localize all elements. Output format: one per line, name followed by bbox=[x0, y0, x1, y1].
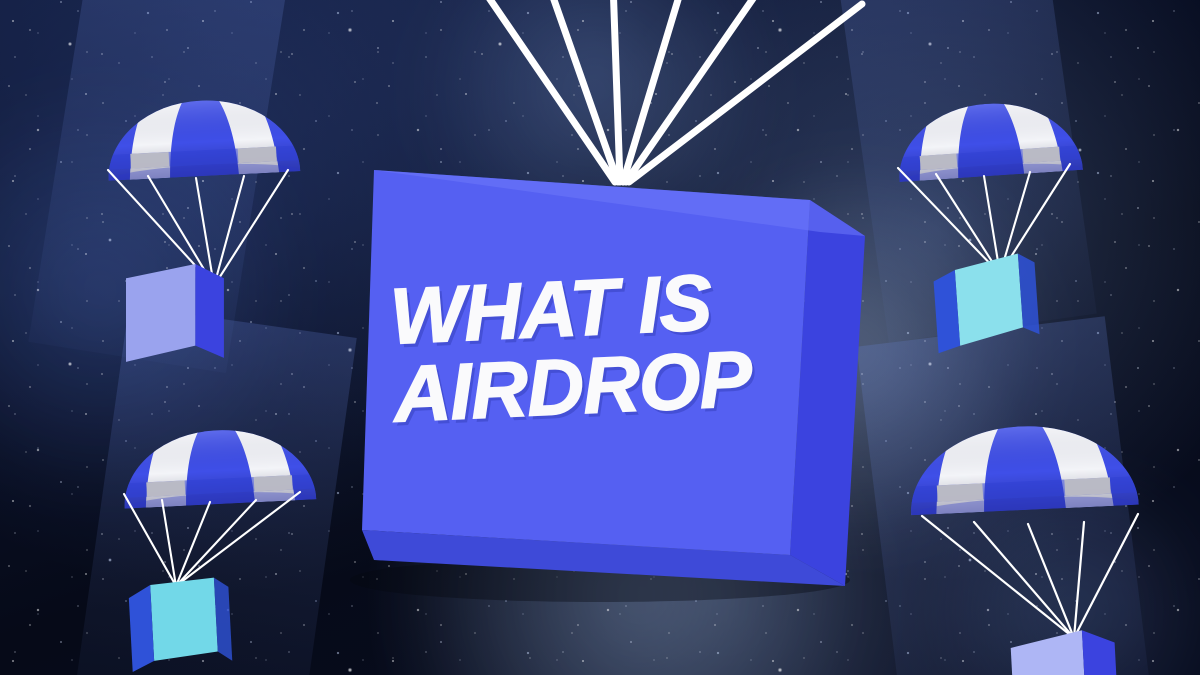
cargo-box-bottom-left bbox=[128, 577, 233, 672]
suspension-lines-top-right bbox=[898, 164, 1070, 274]
canopy-bottom-right bbox=[905, 403, 1143, 595]
cargo-box-top-left bbox=[126, 264, 224, 362]
suspension-lines-bottom-right bbox=[922, 514, 1138, 638]
parachute-bottom-right bbox=[886, 398, 1186, 675]
cargo-box-top-right bbox=[932, 252, 1040, 353]
cargo-box-bottom-right bbox=[1010, 629, 1120, 675]
airdrop-hero-graphic: WHAT IS AIRDROP bbox=[0, 0, 1200, 675]
canopy-top-right bbox=[893, 82, 1088, 251]
page-title: WHAT IS AIRDROP bbox=[389, 258, 826, 434]
parachute-top-left bbox=[96, 74, 356, 364]
parachute-top-right bbox=[892, 76, 1152, 366]
parachute-bottom-left bbox=[104, 400, 374, 675]
